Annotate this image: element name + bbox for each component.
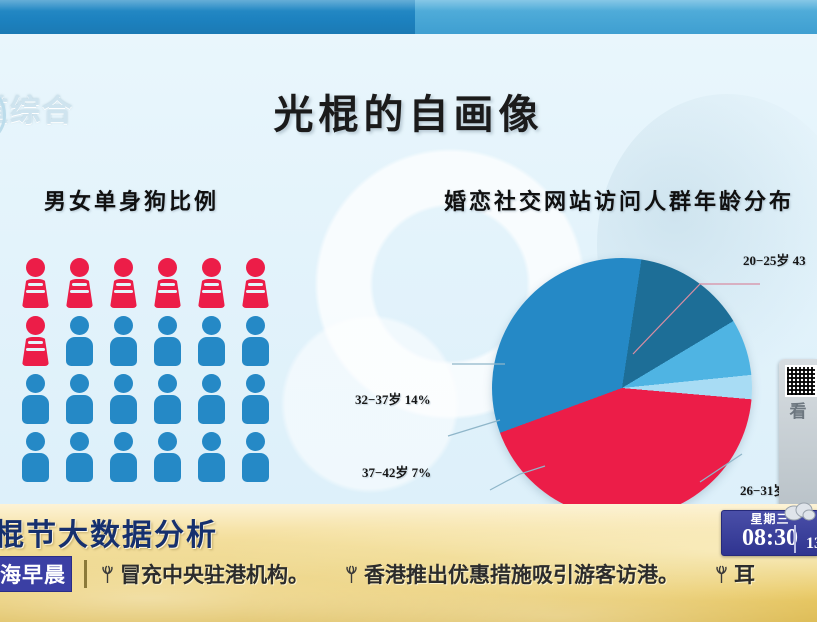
- person-icon-female: [22, 258, 49, 310]
- qr-badge-label: 看: [785, 402, 811, 422]
- person-icon-male: [154, 316, 181, 368]
- age-distribution-pie-chart: [492, 258, 752, 518]
- pictogram-row: [22, 374, 284, 432]
- bauhinia-icon: [99, 565, 116, 584]
- person-icon-male: [22, 374, 49, 426]
- watermark-ring-icon: [0, 84, 6, 146]
- ticker-item[interactable]: 冒充中央驻港机构。: [99, 559, 309, 589]
- top-bar: [0, 0, 817, 34]
- ticker-item[interactable]: 香港推出优惠措施吸引游客访港。: [343, 559, 679, 589]
- person-icon-male: [66, 374, 93, 426]
- person-icon-female: [22, 316, 49, 368]
- person-icon-male: [198, 316, 225, 368]
- person-icon-female: [154, 258, 181, 310]
- person-icon-male: [154, 432, 181, 484]
- lower-third: 棍节大数据分析 海早晨 冒充中央驻港机构。: [0, 504, 817, 622]
- qr-code-icon[interactable]: [785, 365, 817, 397]
- person-icon-male: [66, 432, 93, 484]
- cloud-icon: [782, 499, 816, 523]
- clock-divider: [794, 525, 796, 553]
- pie-slices: [492, 258, 752, 518]
- bauhinia-icon: [713, 565, 730, 584]
- gender-pictogram-chart: [22, 258, 284, 502]
- news-headline: 棍节大数据分析: [0, 510, 218, 554]
- broadcast-screen: 光棍的自画像 男女单身狗比例 婚恋社交网站访问人群年龄分布: [0, 0, 817, 622]
- ticker-item[interactable]: 耳: [713, 559, 755, 589]
- slide-canvas: 光棍的自画像 男女单身狗比例 婚恋社交网站访问人群年龄分布: [0, 34, 817, 504]
- pictogram-row: [22, 432, 284, 490]
- current-time: 08:30: [722, 526, 817, 551]
- ticker-program-badge: 海早晨: [0, 556, 72, 592]
- ticker-text: 耳: [734, 559, 755, 589]
- ticker-text: 冒充中央驻港机构。: [120, 559, 309, 589]
- pie-label-32-37: 32−37岁 14%: [355, 389, 431, 408]
- ticker-divider: [84, 560, 87, 588]
- ticker-text: 香港推出优惠措施吸引游客访港。: [364, 559, 679, 589]
- channel-watermark: 道综合: [0, 80, 128, 144]
- person-icon-male: [242, 316, 269, 368]
- left-chart-title: 男女单身狗比例: [44, 184, 219, 216]
- person-icon-male: [242, 432, 269, 484]
- pictogram-row: [22, 316, 284, 374]
- person-icon-male: [154, 374, 181, 426]
- watermark-label: 道综合: [0, 95, 74, 128]
- person-icon-female: [66, 258, 93, 310]
- person-icon-female: [198, 258, 225, 310]
- person-icon-female: [110, 258, 137, 310]
- person-icon-male: [66, 316, 93, 368]
- temperature-value: 13: [806, 535, 817, 553]
- right-chart-title: 婚恋社交网站访问人群年龄分布: [444, 184, 794, 216]
- person-icon-male: [22, 432, 49, 484]
- person-icon-female: [242, 258, 269, 310]
- qr-badge[interactable]: 看: [779, 359, 817, 511]
- person-icon-male: [110, 316, 137, 368]
- pie-label-20-25: 20−25岁 43: [743, 250, 806, 269]
- person-icon-male: [242, 374, 269, 426]
- pictogram-row: [22, 258, 284, 316]
- person-icon-male: [110, 432, 137, 484]
- top-bar-gloss: [0, 0, 817, 11]
- clock-weather-widget: 星期三 08:30 13: [721, 510, 817, 556]
- person-icon-male: [198, 374, 225, 426]
- person-icon-male: [198, 432, 225, 484]
- news-ticker: 海早晨 冒充中央驻港机构。 香港推出优惠措施吸引: [0, 554, 817, 594]
- pie-label-37-42: 37−42岁 7%: [362, 462, 431, 481]
- bauhinia-icon: [343, 565, 360, 584]
- person-icon-male: [110, 374, 137, 426]
